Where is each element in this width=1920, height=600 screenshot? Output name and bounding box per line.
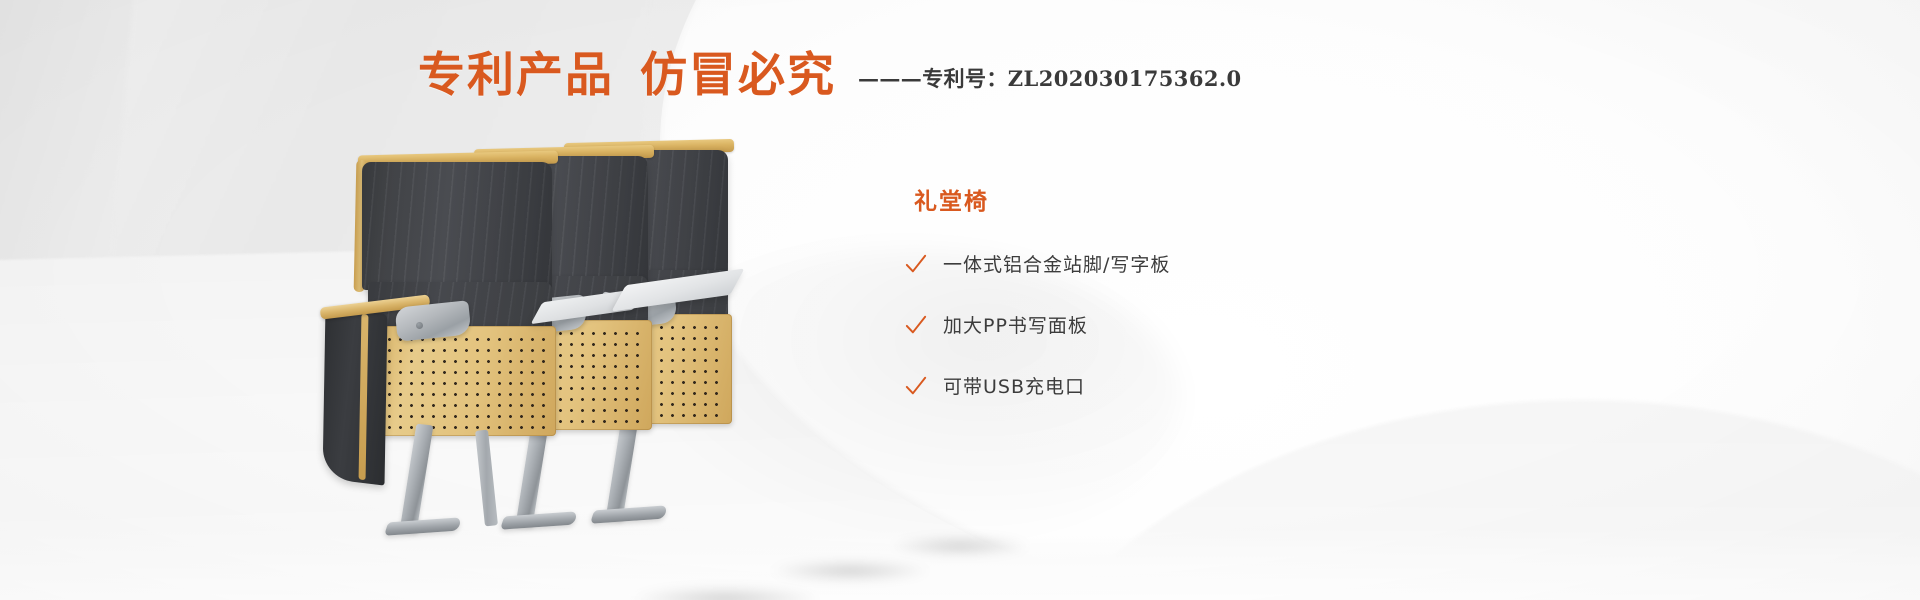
headline-part-1: 专利产品 [418,48,614,103]
chair-side-shell [323,306,388,485]
feature-item: 加大PP书写面板 [905,311,1465,338]
feature-list: 礼堂椅 一体式铝合金站脚/写字板 加大PP书写面板 可带USB充电口 [905,182,1465,399]
chair-shadow-far [890,536,1030,556]
check-icon [905,314,927,336]
headline-part-2: 仿冒必究 [640,48,836,103]
chair-pivot-dot [416,322,423,329]
product-banner: 专利产品仿冒必究 ———专利号：ZL202030175362.0 礼堂椅 一体式… [0,0,1920,600]
feature-label: 加大PP书写面板 [943,311,1088,338]
product-category-title: 礼堂椅 [914,182,1465,216]
feature-label: 一体式铝合金站脚/写字板 [943,250,1170,277]
chair-shadow-middle [770,560,930,582]
chair-near [362,162,552,462]
product-image [300,120,820,500]
check-icon [905,375,927,397]
headline-text: 专利产品仿冒必究 [418,52,836,99]
chair-backrest [362,162,552,290]
headline-group: 专利产品仿冒必究 ———专利号：ZL202030175362.0 [418,52,1242,99]
check-icon [905,253,927,275]
feature-item: 可带USB充电口 [905,372,1465,399]
chair-wood-panel [376,326,556,436]
feature-item: 一体式铝合金站脚/写字板 [905,250,1465,277]
feature-label: 可带USB充电口 [943,372,1085,399]
patent-number: ———专利号：ZL202030175362.0 [858,63,1242,99]
